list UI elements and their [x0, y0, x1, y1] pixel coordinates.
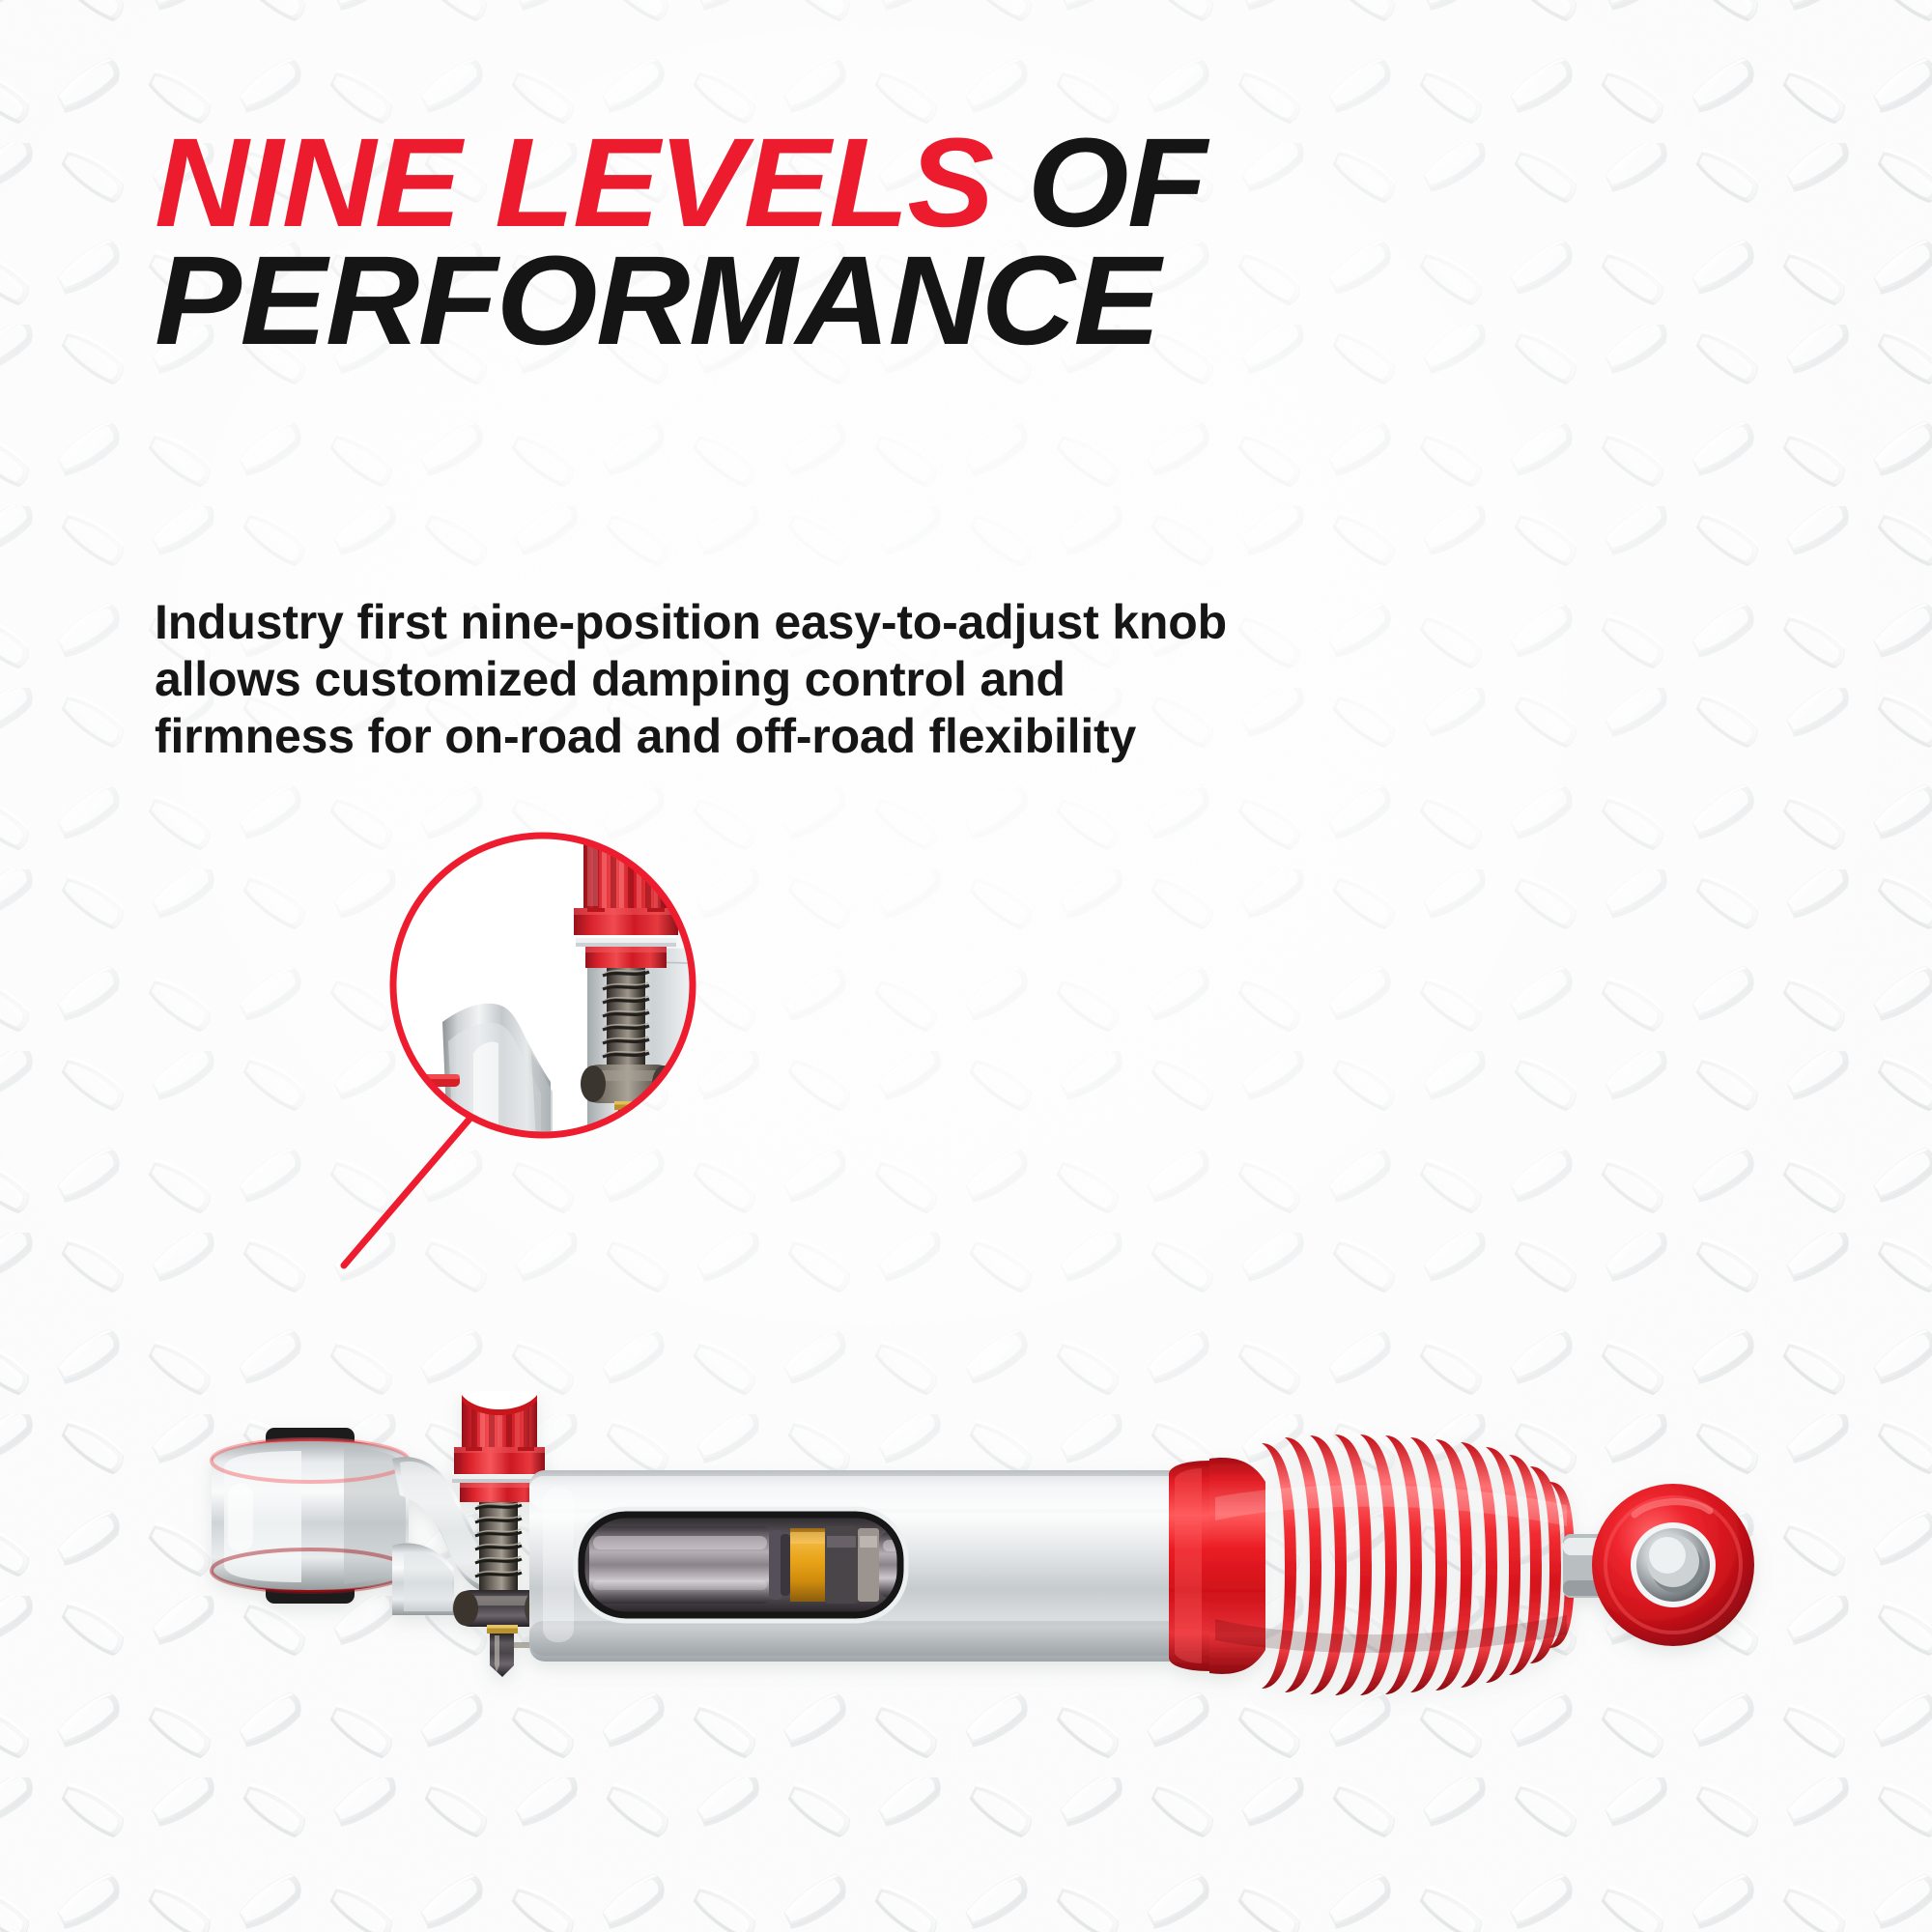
callout-magnified-contents — [386, 817, 715, 1159]
adjustment-knob[interactable] — [574, 817, 678, 935]
promo-graphic-canvas: NINE LEVELS OF PERFORMANCE Industry firs… — [0, 0, 1932, 1932]
left-eye-bushing — [212, 1428, 409, 1604]
nine-position-knob[interactable] — [454, 1391, 545, 1474]
right-mount-eye — [1563, 1484, 1754, 1646]
bellows-boot — [1169, 1435, 1575, 1695]
headline-line-2: PERFORMANCE — [155, 241, 1448, 359]
headline-line-1: NINE LEVELS OF — [155, 124, 1448, 241]
subcopy-paragraph: Industry first nine-position easy-to-adj… — [155, 594, 1246, 765]
headline: NINE LEVELS OF PERFORMANCE — [155, 124, 1448, 359]
detail-callout — [328, 763, 831, 1362]
leader-line — [344, 1103, 483, 1265]
shock-absorber-illustration — [164, 1391, 1806, 1797]
